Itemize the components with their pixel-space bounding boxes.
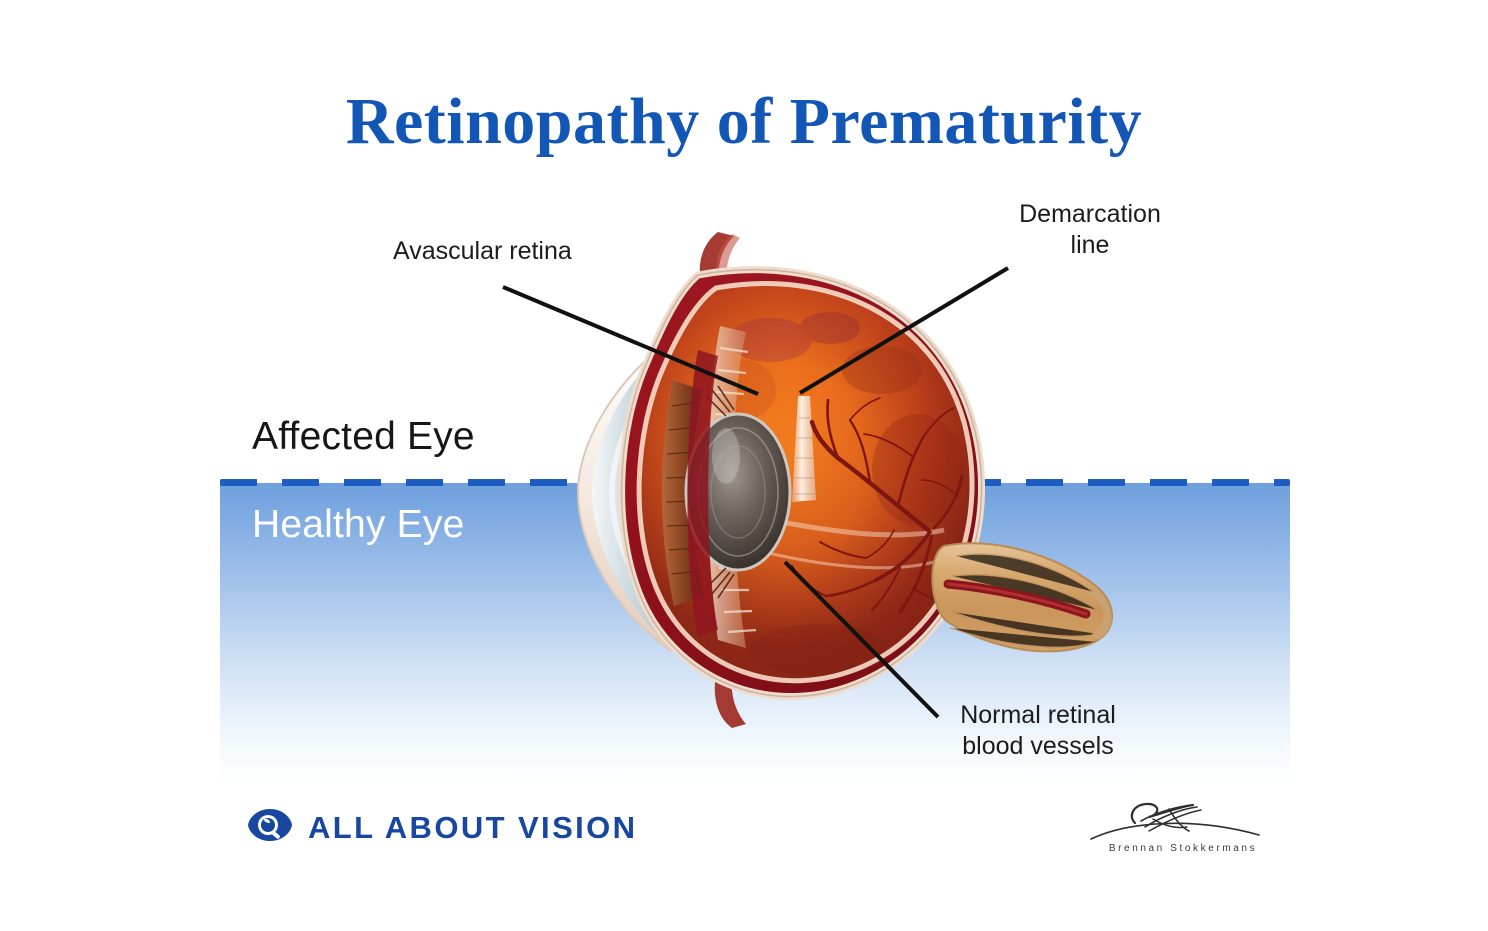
callout-label-normal-retinal-blood-vessels: Normal retinal blood vessels <box>938 700 1138 761</box>
eye-cross-section-illustration <box>520 230 1140 730</box>
brand-wordmark: ALL ABOUT VISION <box>308 810 637 846</box>
optic-nerve <box>932 543 1112 651</box>
artist-signature: Brennan Stokkermans <box>1083 795 1283 867</box>
healthy-eye-label: Healthy Eye <box>252 503 464 547</box>
page-title: Retinopathy of Prematurity <box>0 84 1488 160</box>
slide-canvas: Retinopathy of Prematurity <box>0 0 1488 931</box>
signature-name: Brennan Stokkermans <box>1083 843 1283 854</box>
callout-label-avascular-retina: Avascular retina <box>393 236 572 267</box>
signature-swoosh <box>1091 823 1259 839</box>
callout-label-demarcation-line: Demarcation line <box>1005 199 1175 260</box>
affected-eye-label: Affected Eye <box>252 415 475 459</box>
eye-icon <box>247 808 293 847</box>
brand-logo[interactable]: ALL ABOUT VISION <box>247 808 637 847</box>
signature-scrawl <box>1132 804 1201 831</box>
